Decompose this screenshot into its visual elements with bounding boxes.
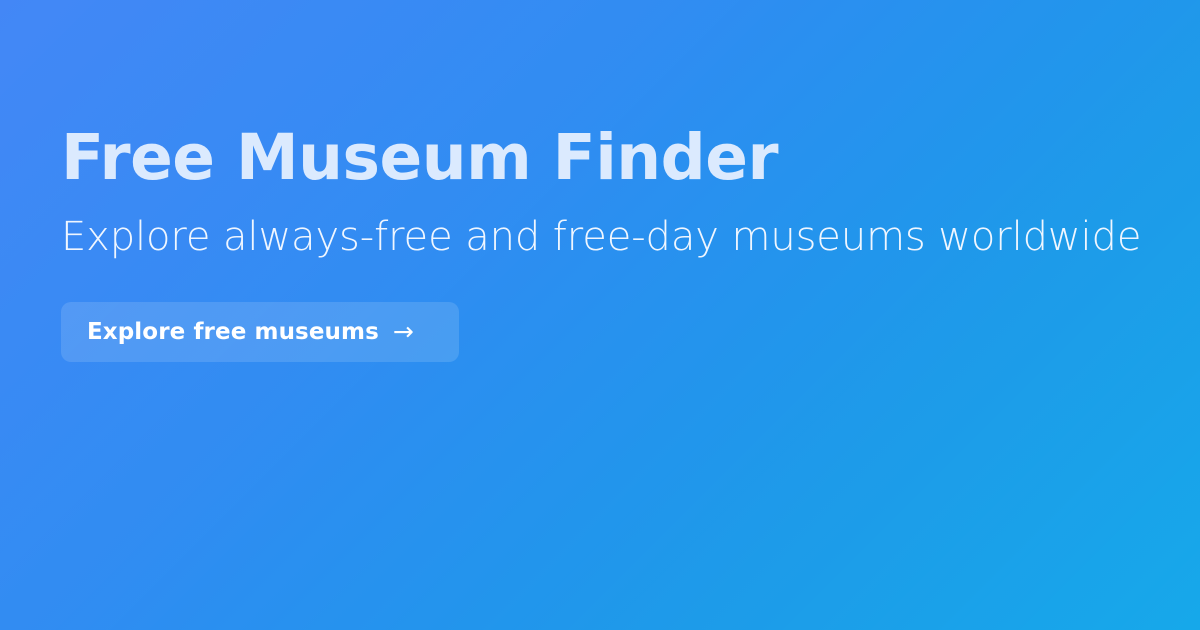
og-share-card: Free Museum Finder Explore always-free a…	[0, 0, 1200, 630]
page-subtitle: Explore always-free and free-day museums…	[61, 192, 1140, 260]
hero-content: Free Museum Finder Explore always-free a…	[61, 124, 1140, 362]
cta-label: Explore free museums	[87, 321, 379, 344]
cta-row: Explore free museums →	[61, 260, 1140, 362]
arrow-right-icon: →	[393, 319, 414, 344]
page-title: Free Museum Finder	[61, 124, 1140, 192]
explore-free-museums-button[interactable]: Explore free museums →	[61, 302, 459, 362]
